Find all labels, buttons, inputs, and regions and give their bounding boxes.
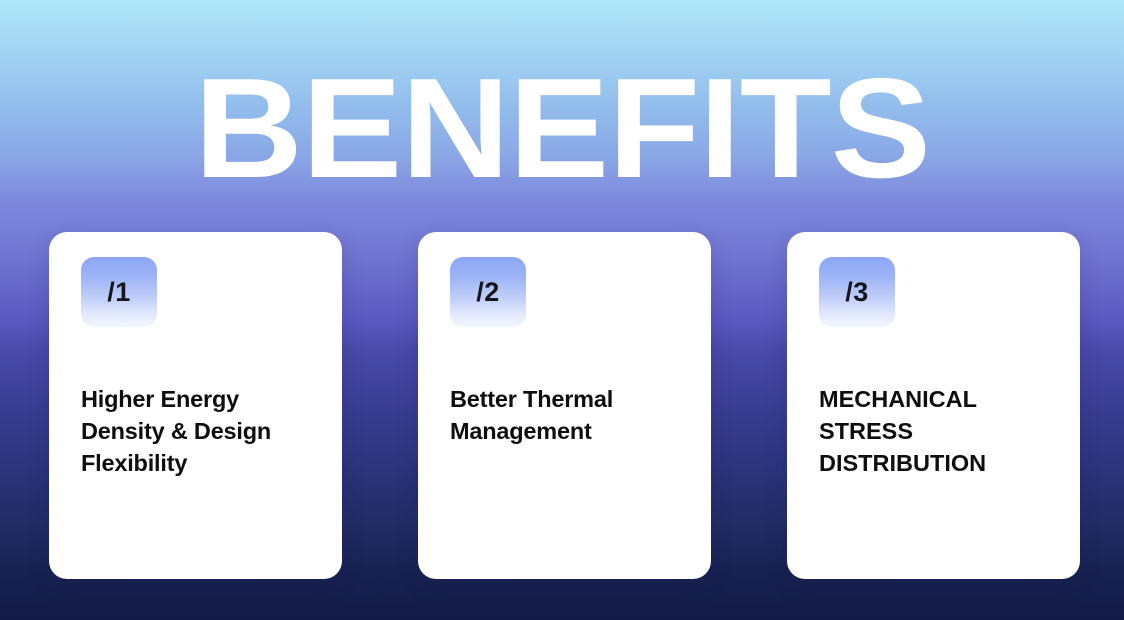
card-number-badge-3: /3 (819, 257, 895, 327)
card-number-label: /1 (107, 279, 131, 306)
card-number-badge-1: /1 (81, 257, 157, 327)
title-container: BENEFITS (0, 62, 1124, 197)
card-title-1: Higher Energy Density & Design Flexibili… (81, 383, 306, 479)
benefit-card-3[interactable]: /3 MECHANICAL STRESS DISTRIBUTION (787, 232, 1080, 579)
card-number-label: /2 (476, 279, 500, 306)
page-title: BENEFITS (194, 62, 930, 197)
benefits-slide: BENEFITS /1 Higher Energy Density & Desi… (0, 0, 1124, 620)
benefit-card-1[interactable]: /1 Higher Energy Density & Design Flexib… (49, 232, 342, 579)
card-number-label: /3 (845, 279, 869, 306)
benefit-cards-row: /1 Higher Energy Density & Design Flexib… (49, 232, 1080, 579)
benefit-card-2[interactable]: /2 Better Thermal Management (418, 232, 711, 579)
card-title-2: Better Thermal Management (450, 383, 675, 447)
card-number-badge-2: /2 (450, 257, 526, 327)
card-title-3: MECHANICAL STRESS DISTRIBUTION (819, 383, 1044, 479)
